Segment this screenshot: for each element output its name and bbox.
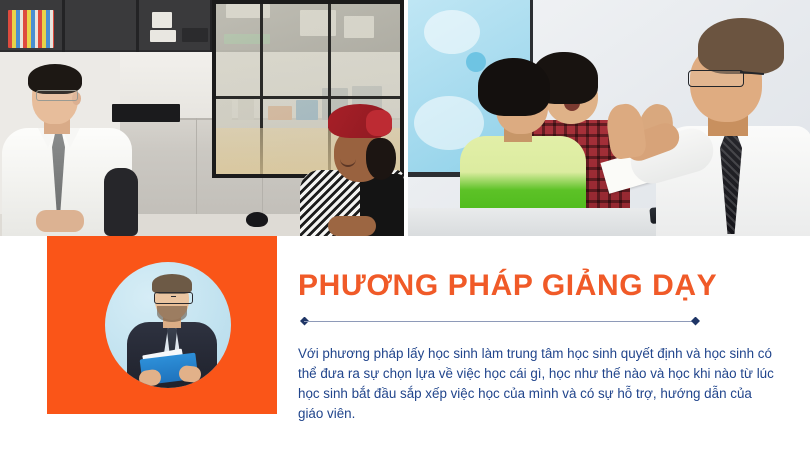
shelf-item-box — [152, 12, 172, 28]
student-hair — [478, 58, 550, 116]
teacher-avatar — [105, 262, 231, 388]
seated-woman-figure — [300, 104, 404, 236]
eyeglasses-icon — [688, 70, 744, 87]
man-clasped-hands — [36, 210, 84, 232]
teacher-hair — [698, 18, 784, 74]
eyeglasses-icon — [36, 90, 78, 101]
shelf-divider — [136, 0, 139, 52]
computer-mouse — [246, 212, 268, 227]
content-block: PHƯƠNG PHÁP GIẢNG DẠY Với phương pháp lấ… — [298, 270, 784, 424]
eyeglasses-icon — [154, 292, 193, 304]
teacher-high-five-hand — [604, 102, 647, 160]
avatar-beard — [157, 306, 187, 322]
books-stack — [8, 10, 54, 48]
office-consultation-photo — [0, 0, 404, 236]
teacher-figure — [622, 18, 810, 236]
screen-graphic — [424, 10, 480, 54]
shelf-item-folder — [182, 28, 208, 42]
office-chair — [104, 168, 138, 236]
eyeglasses-bridge — [171, 296, 176, 297]
glass-rail — [216, 96, 400, 99]
divider-cap-right — [691, 317, 700, 326]
title-divider — [300, 317, 700, 326]
headscarf-fold — [366, 110, 392, 136]
shelf-divider — [62, 0, 65, 52]
photo-strip — [0, 0, 810, 236]
body-paragraph: Với phương pháp lấy học sinh làm trung t… — [298, 344, 780, 424]
avatar-hand-right — [178, 365, 202, 383]
divider-line — [304, 321, 696, 323]
woman-hair — [366, 138, 396, 180]
counter-seam — [196, 118, 197, 216]
shelf-item-box — [150, 30, 176, 42]
avatar-hair — [152, 274, 192, 294]
page-title: PHƯƠNG PHÁP GIẢNG DẠY — [298, 270, 784, 302]
woman-arm — [328, 216, 376, 236]
classroom-high-five-photo — [408, 0, 810, 236]
